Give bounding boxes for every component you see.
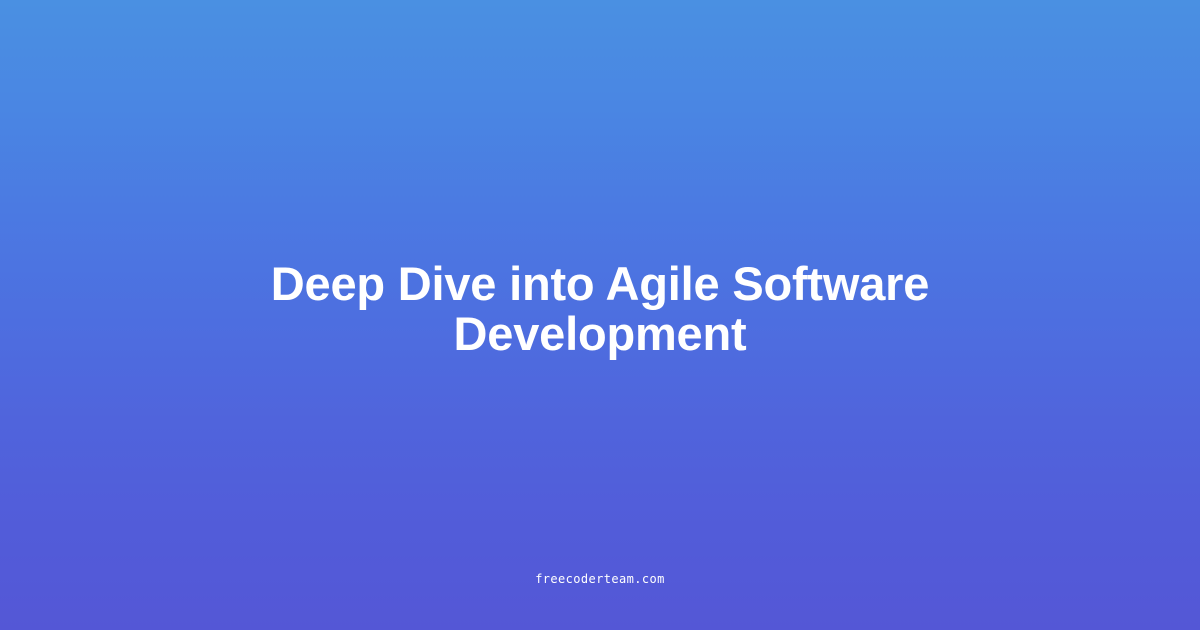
title-block: Deep Dive into Agile Software Developmen… bbox=[220, 259, 980, 359]
site-domain-label: freecoderteam.com bbox=[535, 572, 665, 586]
og-card: Deep Dive into Agile Software Developmen… bbox=[0, 0, 1200, 630]
page-title: Deep Dive into Agile Software Developmen… bbox=[220, 259, 980, 359]
card-footer: freecoderteam.com bbox=[0, 570, 1200, 588]
